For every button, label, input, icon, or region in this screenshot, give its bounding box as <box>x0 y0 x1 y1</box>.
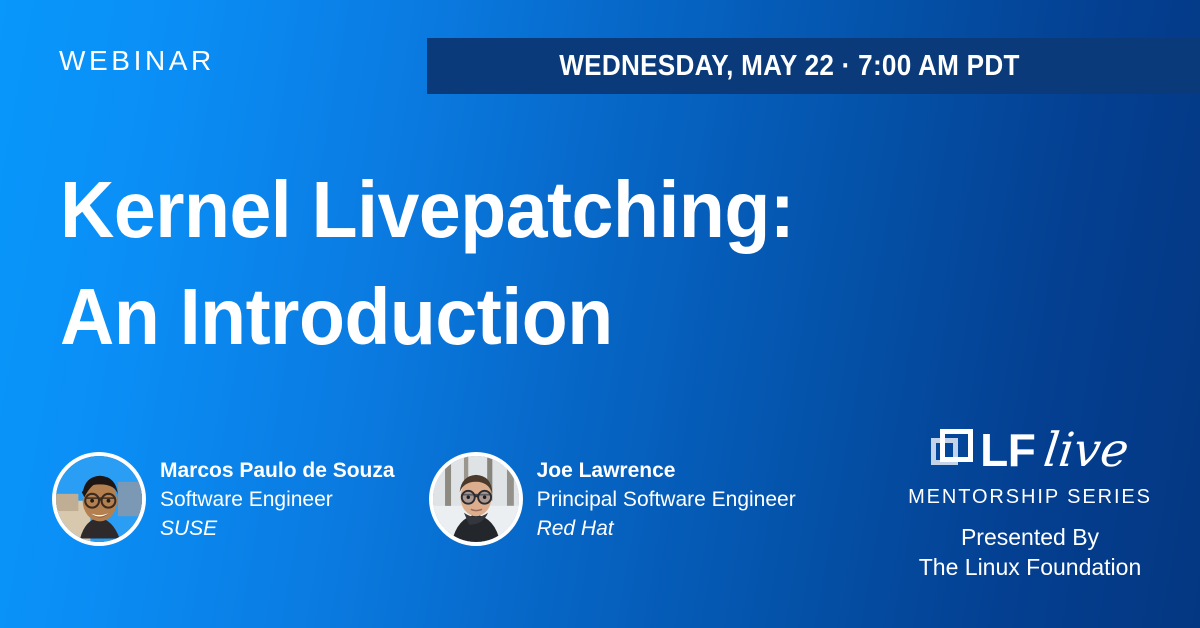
lf-letters: LF <box>980 427 1035 473</box>
date-banner: WEDNESDAY, MAY 22 · 7:00 AM PDT <box>427 38 1200 94</box>
presented-by-block: Presented By The Linux Foundation <box>908 522 1152 583</box>
page-title: Kernel Livepatching: An Introduction <box>60 156 841 370</box>
avatar <box>429 452 523 546</box>
speaker-list: Marcos Paulo de Souza Software Engineer … <box>52 452 796 546</box>
title-line-1: Kernel Livepatching: <box>60 156 794 263</box>
speaker-card: Marcos Paulo de Souza Software Engineer … <box>52 452 395 546</box>
live-script-text: live <box>1041 427 1131 474</box>
date-banner-text: WEDNESDAY, MAY 22 · 7:00 AM PDT <box>559 50 1068 83</box>
speaker-name: Joe Lawrence <box>537 460 796 481</box>
speaker-title: Software Engineer <box>160 489 395 510</box>
speaker-title: Principal Software Engineer <box>537 489 796 510</box>
headshot-joe-icon <box>433 456 519 542</box>
speaker-org: Red Hat <box>537 518 796 539</box>
avatar <box>52 452 146 546</box>
speaker-info: Joe Lawrence Principal Software Engineer… <box>537 460 796 539</box>
series-label: MENTORSHIP SERIES <box>908 486 1152 509</box>
presented-by-label: Presented By <box>908 522 1152 552</box>
speaker-org: SUSE <box>160 518 395 539</box>
square-outer-shape <box>940 429 973 462</box>
headshot-marcos-icon <box>56 456 142 542</box>
speaker-name: Marcos Paulo de Souza <box>160 460 395 481</box>
branding-lockup: LF live MENTORSHIP SERIES Presented By T… <box>908 424 1152 583</box>
title-line-2: An Introduction <box>60 263 794 370</box>
speaker-card: Joe Lawrence Principal Software Engineer… <box>429 452 796 546</box>
webinar-promo-card: WEBINAR WEDNESDAY, MAY 22 · 7:00 AM PDT … <box>0 0 1200 628</box>
organization-name: The Linux Foundation <box>908 552 1152 582</box>
lf-live-logo: LF live <box>908 424 1152 476</box>
linux-foundation-square-icon <box>931 429 973 471</box>
eyebrow-label: WEBINAR <box>59 47 215 75</box>
speaker-info: Marcos Paulo de Souza Software Engineer … <box>160 460 395 539</box>
